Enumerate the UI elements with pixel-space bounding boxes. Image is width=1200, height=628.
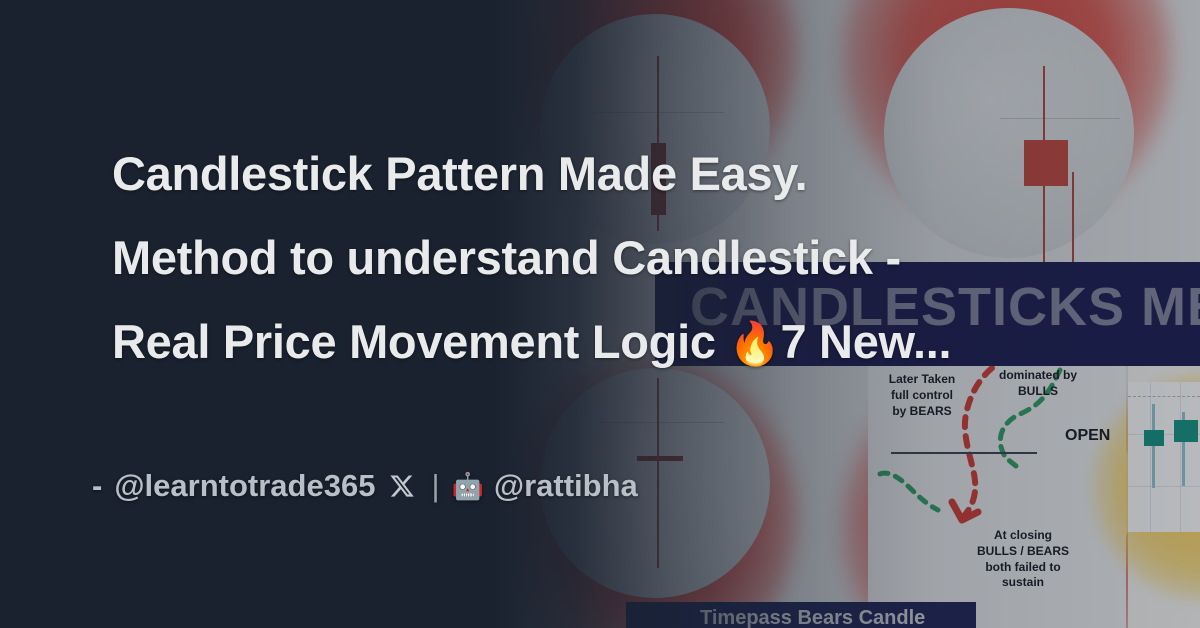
title-line-3-suffix: 7 New... [780, 315, 951, 368]
card-content: Candlestick Pattern Made Easy. Method to… [0, 0, 1200, 628]
title-line-1: Candlestick Pattern Made Easy. [112, 132, 1182, 216]
attribution: - @learntotrade365 | 🤖 @rattibha [92, 468, 638, 504]
source-handle[interactable]: @rattibha [494, 468, 638, 504]
attribution-dash: - [92, 468, 102, 504]
title-line-3-text: Real Price Movement Logic [112, 315, 728, 368]
social-preview-card: Later Taken full control by BEARS domina… [0, 0, 1200, 628]
robot-icon: 🤖 [452, 471, 484, 502]
author-handle[interactable]: @learntotrade365 [114, 468, 375, 504]
x-logo-icon [389, 473, 415, 499]
title-line-3: Real Price Movement Logic 🔥7 New... [112, 300, 1182, 386]
attribution-separator: | [431, 468, 439, 504]
title-line-2: Method to understand Candlestick - [112, 216, 1182, 300]
fire-icon: 🔥 [728, 320, 780, 367]
page-title: Candlestick Pattern Made Easy. Method to… [112, 132, 1182, 386]
